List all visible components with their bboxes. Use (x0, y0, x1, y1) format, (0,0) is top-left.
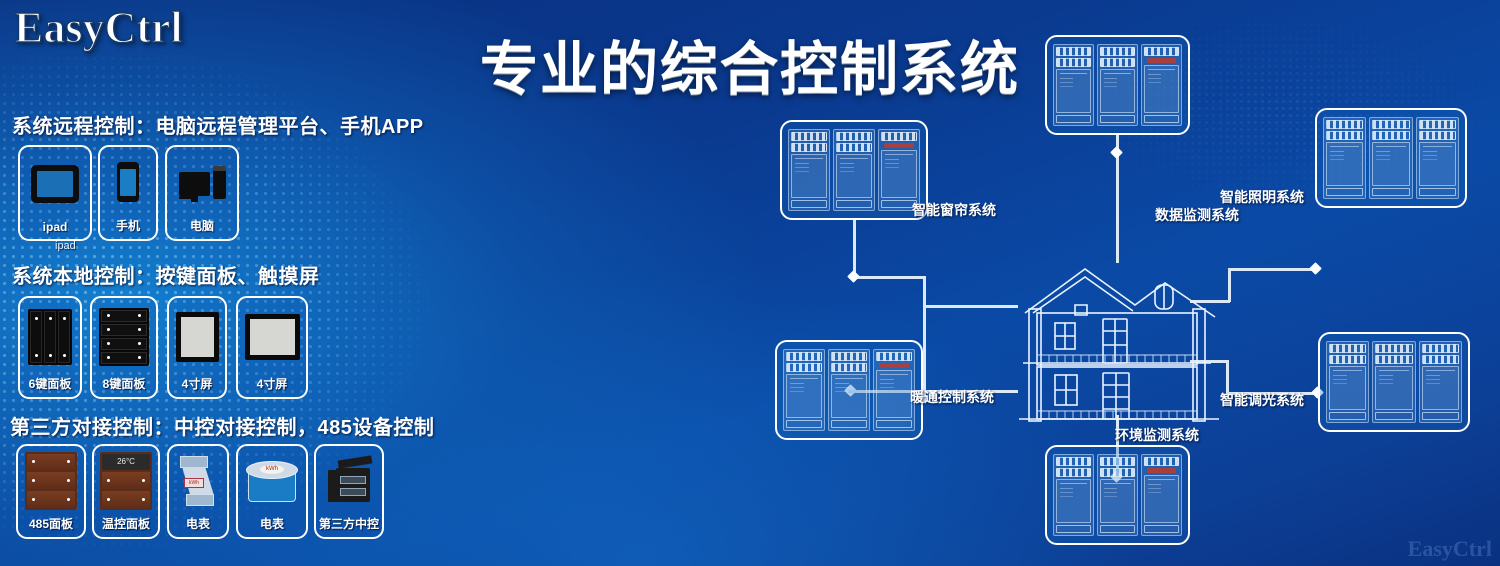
device-card-keypad-6[interactable]: 6键面板 (18, 296, 82, 399)
device-card-round-meter[interactable]: kWh 电表 (236, 444, 308, 539)
touchscreen-icon (169, 298, 225, 375)
wire-curtain-down (923, 276, 926, 396)
poster-canvas: EasyCtrl 专业的综合控制系统 系统远程控制：电脑远程管理平台、手机APP… (0, 0, 1500, 566)
wire-light-in (1228, 268, 1318, 271)
round-meter-display: kWh (260, 465, 284, 474)
node-light (1309, 262, 1322, 275)
diagram-device-hvac-controller[interactable] (775, 340, 923, 440)
keypad-8-icon (92, 298, 156, 375)
house-illustration (1015, 255, 1225, 440)
device-card-rs485-panel[interactable]: 485面板 (16, 444, 86, 539)
device-label: 485面板 (29, 515, 73, 537)
diagram-device-lighting-controller[interactable] (1315, 108, 1467, 208)
diagram-device-dimmer-controller[interactable] (1318, 332, 1470, 432)
device-label: ipad (43, 220, 68, 239)
device-label: 电脑 (190, 217, 214, 239)
node-data (1110, 146, 1123, 159)
wire-dim-up (1226, 360, 1229, 394)
brand-watermark: EasyCtrl (1408, 536, 1492, 562)
device-card-phone[interactable]: 手机 (98, 145, 158, 241)
device-card-third-party-controller[interactable]: 第三方中控 (314, 444, 384, 539)
device-card-touchscreen-1[interactable]: 4寸屏 (167, 296, 227, 399)
diagram-label-dimming: 智能调光系统 (1220, 390, 1304, 410)
third-party-controller-icon (316, 446, 382, 515)
device-label: 电表 (260, 515, 284, 537)
device-label: 4寸屏 (182, 375, 213, 397)
device-sublabel-ipad: ipad (55, 240, 76, 252)
phone-icon (100, 147, 156, 217)
electric-meter-icon: kWh (169, 446, 227, 515)
device-card-touchscreen-2[interactable]: 4寸屏 (236, 296, 308, 399)
rs485-panel-icon (18, 446, 84, 515)
desktop-computer-icon (167, 147, 237, 217)
device-label: 8键面板 (103, 375, 146, 397)
section-heading-remote: 系统远程控制：电脑远程管理平台、手机APP (12, 110, 424, 139)
brand-logo: EasyCtrl (14, 2, 183, 53)
device-card-electric-meter[interactable]: kWh 电表 (167, 444, 229, 539)
device-card-thermostat-panel[interactable]: 26°C 温控面板 (92, 444, 160, 539)
diagram-label-lighting: 智能照明系统 (1220, 187, 1304, 207)
diagram-device-curtain-controller[interactable] (780, 120, 928, 220)
thermostat-display: 26°C (102, 454, 150, 471)
node-curtain (847, 270, 860, 283)
device-card-computer[interactable]: 电脑 (165, 145, 239, 241)
wire-curtain-stub (853, 276, 925, 279)
round-meter-icon: kWh (238, 446, 306, 515)
device-label: 手机 (116, 217, 140, 239)
device-label: 6键面板 (29, 375, 72, 397)
diagram-device-environment-sensor[interactable] (1045, 445, 1190, 545)
touchscreen-icon (238, 298, 306, 375)
system-topology-diagram: 智能窗帘系统 数据监测系统 智能照明系统 暖通控制系统 智能调光系统 环境监测系… (760, 60, 1500, 566)
keypad-6-icon (20, 298, 80, 375)
diagram-label-hvac: 暖通控制系统 (910, 387, 994, 407)
diagram-device-data-monitor[interactable] (1045, 35, 1190, 135)
device-label: 电表 (186, 515, 210, 537)
diagram-label-data-monitor: 数据监测系统 (1155, 205, 1239, 225)
device-card-keypad-8[interactable]: 8键面板 (90, 296, 158, 399)
device-label: 温控面板 (102, 515, 150, 537)
section-heading-third-party: 第三方对接控制：中控对接控制，485设备控制 (10, 411, 434, 440)
wire-curtain-to-house (923, 305, 1018, 308)
tablet-icon (20, 147, 90, 220)
thermostat-panel-icon: 26°C (94, 446, 158, 515)
section-heading-local: 系统本地控制：按键面板、触摸屏 (12, 260, 320, 289)
diagram-label-curtain: 智能窗帘系统 (912, 200, 996, 220)
device-label: 第三方中控 (319, 515, 379, 537)
device-card-ipad[interactable]: ipad (18, 145, 92, 241)
diagram-label-environment: 环境监测系统 (1115, 425, 1199, 445)
device-label: 4寸屏 (257, 375, 288, 397)
wire-light-down (1228, 268, 1231, 302)
